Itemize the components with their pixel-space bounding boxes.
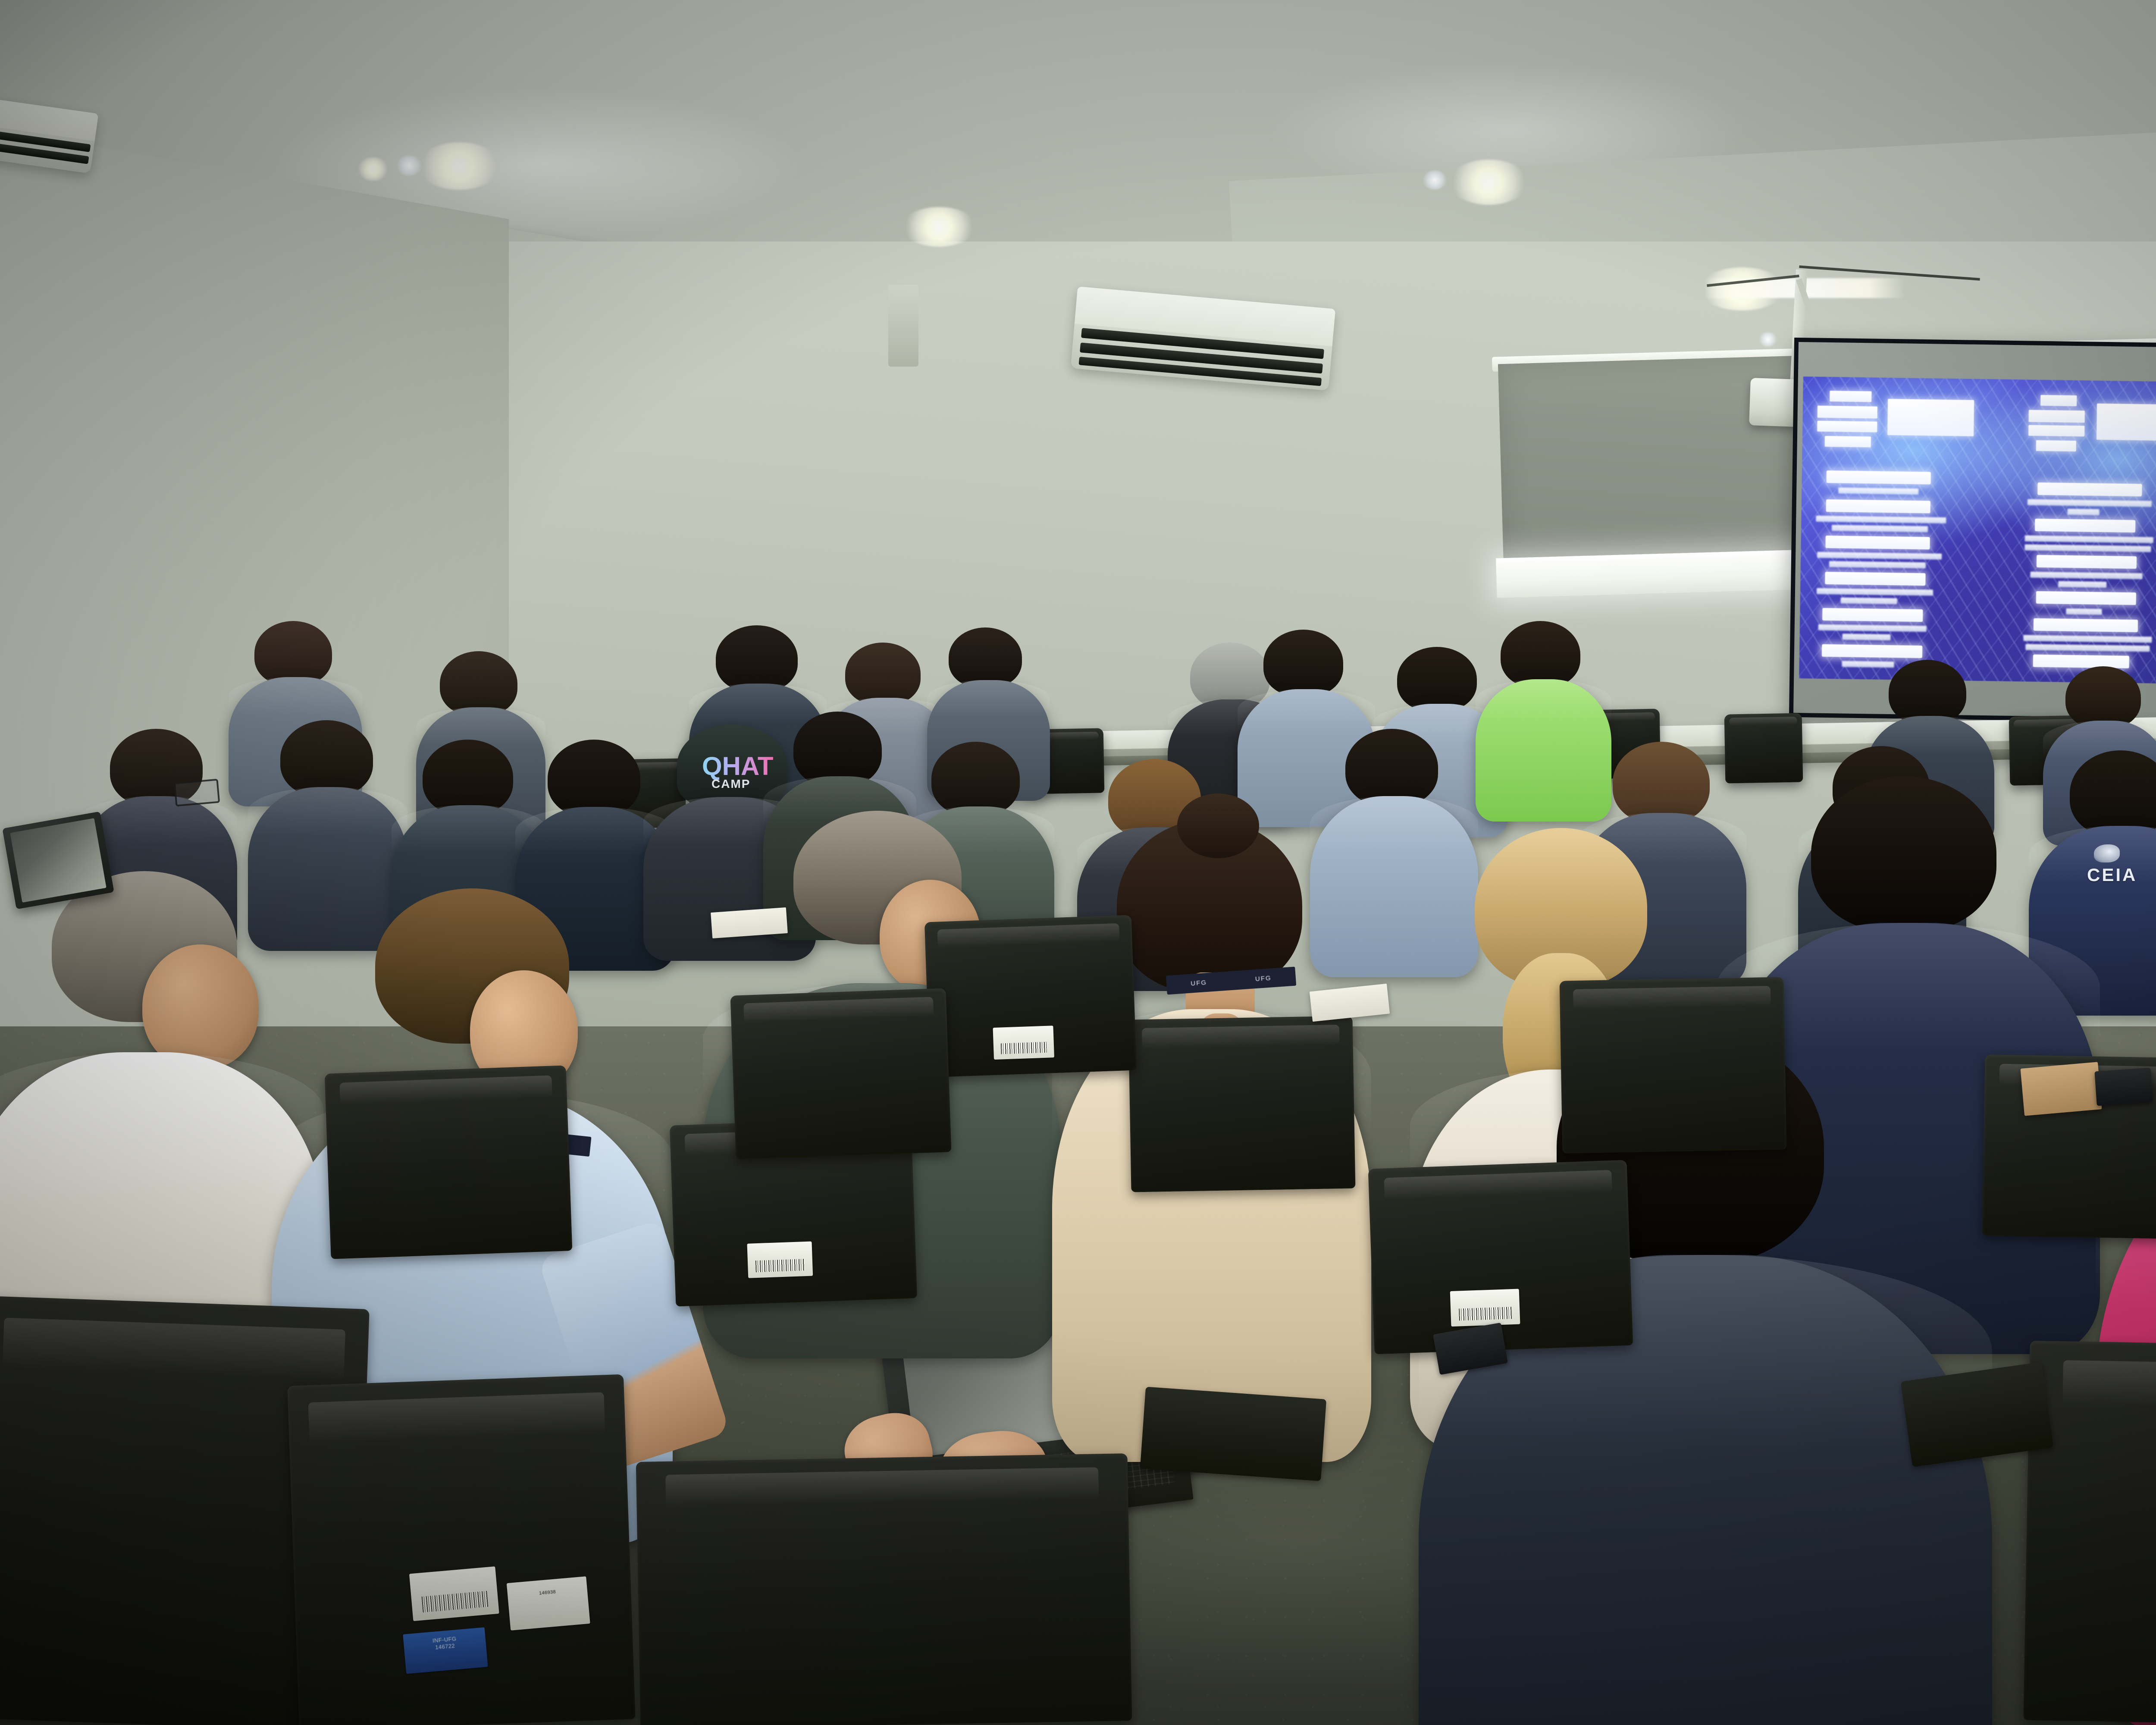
slide-item-caption-r2b bbox=[2024, 544, 2151, 552]
asset-tag-white-3 bbox=[747, 1242, 813, 1278]
asset-tag-blue-1: INF-UFG 146722 bbox=[403, 1627, 488, 1674]
slide-item-caption-r5a bbox=[2023, 635, 2152, 643]
paper-on-desk-2[interactable] bbox=[711, 907, 788, 938]
laptop-side-left-lid bbox=[2, 811, 114, 909]
asset-tag-white-5 bbox=[993, 1026, 1054, 1060]
chair-mid-8 bbox=[730, 988, 952, 1159]
slide-logo-block-4 bbox=[1825, 436, 1871, 447]
attendee-front-beige-top-bun bbox=[1177, 793, 1259, 858]
ac-mount-bracket bbox=[888, 285, 918, 367]
attendee-front-white-shirt-head bbox=[142, 944, 259, 1069]
slide-logo-block-1 bbox=[1830, 390, 1872, 402]
attendee-front-navy-hair bbox=[1811, 776, 1996, 931]
slide-item-caption-3b bbox=[1829, 561, 1926, 568]
slide-logo-block-r3 bbox=[2028, 425, 2085, 436]
projection-screen bbox=[1789, 338, 2156, 723]
ceiling-spotlight-2 bbox=[1449, 160, 1529, 205]
slide-item-caption-r1a bbox=[2027, 499, 2152, 507]
slide-item-bar-2 bbox=[1826, 499, 1930, 513]
ceiling-spotlight-2-pilot bbox=[1423, 170, 1447, 190]
slide-item-bar-r1 bbox=[2037, 483, 2142, 497]
chair-back-3 bbox=[1724, 713, 1803, 783]
slide-item-bar-r2 bbox=[2035, 519, 2135, 533]
projection-screen-surface bbox=[1793, 342, 2156, 719]
asset-tag-white-2: 146938 bbox=[507, 1576, 590, 1631]
slide-item-caption-6 bbox=[1842, 661, 1894, 668]
asset-tag-white-1 bbox=[409, 1566, 499, 1621]
slide-item-caption-2a bbox=[1816, 516, 1946, 524]
slide-logo-block-r1 bbox=[2040, 395, 2077, 406]
slide-logo-block-r2 bbox=[2028, 410, 2085, 423]
slide-item-caption-5a bbox=[1818, 624, 1927, 632]
slide-logo-block-2 bbox=[1817, 405, 1877, 418]
slide-photo-panel-top-right bbox=[2096, 403, 2156, 441]
slide-item-bar-6 bbox=[1822, 644, 1922, 658]
slide-item-caption-4a bbox=[1817, 588, 1933, 596]
slide-logo-block-r4 bbox=[2036, 440, 2076, 452]
slide-item-bar-5 bbox=[1822, 608, 1923, 622]
slide-item-bar-4 bbox=[1825, 571, 1925, 586]
chair-mid-6 bbox=[325, 1065, 573, 1259]
slide-item-bar-r5 bbox=[2034, 618, 2138, 633]
slide-item-bar-r4 bbox=[2036, 591, 2136, 605]
notebook-on-desk[interactable] bbox=[2021, 1062, 2102, 1116]
slide-item-bar-r6 bbox=[2033, 655, 2130, 669]
slide-item-caption-r3a bbox=[2030, 571, 2143, 579]
slide-item-caption-r3b bbox=[2058, 581, 2106, 588]
attendee-mid-1-glasses bbox=[174, 779, 220, 807]
slide-item-caption-4b bbox=[1841, 597, 1897, 604]
ceiling-spotlight-1-pilot bbox=[397, 155, 422, 176]
slide-item-caption-r4 bbox=[2066, 608, 2102, 615]
slide-item-caption-r2a bbox=[2024, 535, 2153, 543]
ceiling-spotlight-5 bbox=[901, 207, 977, 247]
ceiling-spotlight-6-pilot bbox=[1759, 332, 1777, 347]
ceiling-spotlight-7 bbox=[358, 157, 388, 181]
slide-logo-block-3 bbox=[1817, 420, 1877, 432]
slide-photo-panel-top bbox=[1887, 399, 1974, 436]
slide-item-caption-r5b bbox=[2025, 644, 2150, 652]
phone-on-desk[interactable] bbox=[2094, 1068, 2153, 1106]
auditorium-photo: QHAT CAMP CEIA bbox=[0, 0, 2156, 1725]
slide-column-right bbox=[2017, 379, 2156, 684]
chair-mid-4 bbox=[1560, 977, 1787, 1153]
slide-column-left bbox=[1808, 376, 2012, 681]
chair-foreground-center bbox=[636, 1453, 1132, 1725]
chair-mid-7 bbox=[924, 915, 1137, 1078]
chair-mid-2 bbox=[1128, 1016, 1356, 1192]
slide-item-bar-r3 bbox=[2037, 555, 2137, 569]
asset-tag-white-4 bbox=[1450, 1289, 1520, 1327]
cap-logo-qhat: QHAT bbox=[702, 751, 774, 781]
slide-item-caption-2b bbox=[1832, 525, 1928, 532]
chest-logo-ceia: CEIA bbox=[2087, 865, 2137, 885]
cap-logo-camp: CAMP bbox=[711, 777, 750, 791]
chair-arm-center bbox=[1140, 1387, 1326, 1481]
slide-item-bar-3 bbox=[1825, 535, 1930, 549]
slide-item-caption-1 bbox=[1838, 487, 1918, 495]
chair-foreground-left-2: INF-UFG 146722 146938 bbox=[287, 1374, 635, 1725]
ceia-emblem-icon bbox=[2094, 844, 2120, 862]
slide-item-caption-5b bbox=[1842, 634, 1890, 640]
slide-item-bar-1 bbox=[1827, 470, 1931, 485]
projected-slide bbox=[1799, 376, 2156, 684]
slide-item-caption-3a bbox=[1817, 552, 1942, 560]
slide-item-caption-r1b bbox=[2067, 508, 2100, 515]
ceiling-spotlight-1 bbox=[418, 142, 500, 190]
